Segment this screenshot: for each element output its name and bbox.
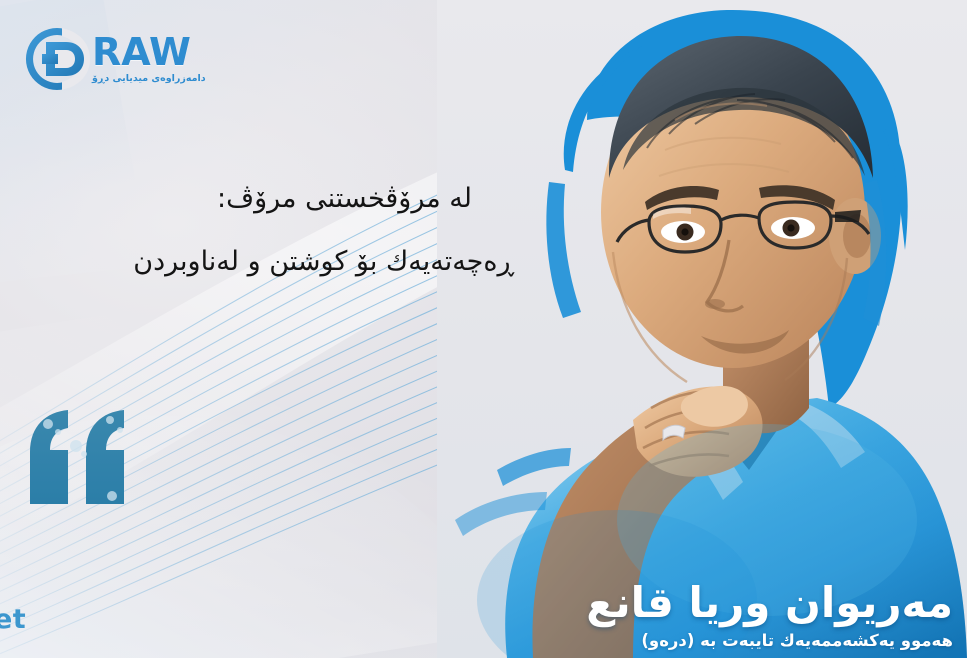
logo-wordmark: RAW [92,34,206,70]
quote-card-canvas: RAW دامەزراوەی میدیایی دڕۆ له مرۆڤخستنى … [0,0,967,658]
watermark-fragment: et [0,604,26,635]
logo-monogram-icon [22,24,92,94]
headline: له مرۆڤخستنى مرۆڤ: ڕەچەتەیەك بۆ كوشتن و … [42,178,472,219]
portrait-photo [437,0,967,658]
quote-mark-icon [24,408,144,508]
headline-line-2: ڕەچەتەیەك بۆ كوشتن و لەناوبردن [0,241,514,282]
headline-line-1: له مرۆڤخستنى مرۆڤ: [42,178,472,219]
speaker-name: مەریوان وریا قانع [433,579,953,626]
speaker-subtitle: هەموو یەکشەممەیەك تایبەت بە (درەو) [433,631,953,650]
draw-media-logo[interactable]: RAW دامەزراوەی میدیایی دڕۆ [22,22,232,96]
portrait-illustration [437,0,967,658]
logo-subtitle: دامەزراوەی میدیایی دڕۆ [92,73,206,84]
logo-text-block: RAW دامەزراوەی میدیایی دڕۆ [92,34,206,83]
speaker-name-block: مەریوان وریا قانع هەموو یەکشەممەیەك تایب… [433,579,953,650]
